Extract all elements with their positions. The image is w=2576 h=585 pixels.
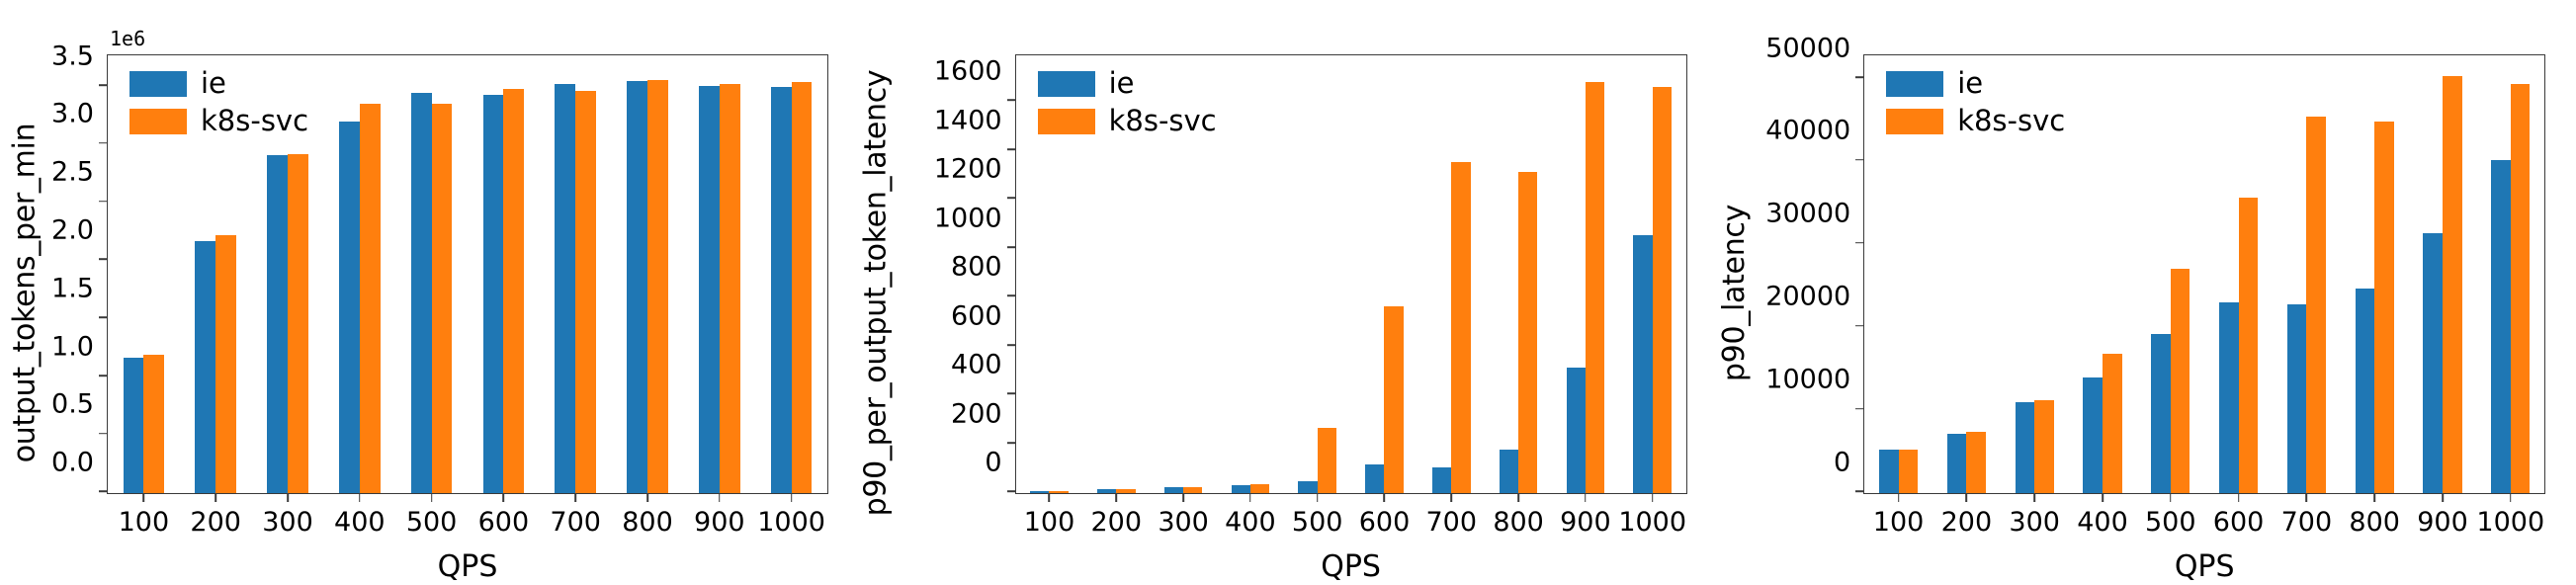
x-tick-label: 600 [478,507,530,538]
x-tick-mark [1652,493,1654,502]
y-tick-mark [99,433,108,435]
y-tick-label: 40000 [1765,116,1864,146]
x-tick-mark [215,493,216,502]
bar-group [468,55,540,493]
x-tick-label: 200 [190,507,241,538]
bar-k8s-svc [1250,484,1269,493]
y-tick-label: 10000 [1765,365,1864,395]
bar-ie [1030,491,1049,493]
bar-ie [267,155,288,493]
y-tick-mark [1007,295,1016,297]
bar-k8s-svc [2306,117,2326,493]
bar-ie [483,95,504,493]
y-tick-label: 0 [1834,448,1864,478]
bar-k8s-svc [1049,491,1068,493]
bar-group [612,55,684,493]
bar-k8s-svc [1318,428,1336,493]
bar-ie [1947,434,1967,493]
bar-group [1417,55,1485,493]
x-tick-mark [2170,493,2172,502]
y-axis-label-panel-2: p90_per_output_token_latency [853,0,899,585]
x-tick-label: 300 [262,507,313,538]
y-tick-mark [1007,198,1016,200]
y-tick-label: 3.5 [51,41,108,71]
x-tick-mark [2033,493,2035,502]
bar-ie [411,93,432,493]
bar-group [755,55,827,493]
y-tick-mark [1007,344,1016,346]
bar-ie [1633,235,1652,493]
bar-k8s-svc [792,82,813,493]
x-tick-mark [2510,493,2512,502]
x-tick-label: 300 [1158,507,1209,538]
bar-ie [555,84,575,493]
legend-swatch-k8s-icon [1038,109,1095,134]
x-tick-mark [287,493,289,502]
plot-area-panel-1: 1e6 0.00.51.01.52.02.53.03.5 10020030040… [107,54,828,494]
x-tick-label: 100 [1873,507,1925,538]
legend-panel-2: ie k8s-svc [1038,69,1217,135]
x-tick-mark [1898,493,1900,502]
bar-ie [1432,467,1451,493]
y-tick-mark [1007,246,1016,248]
y-tick-mark [1007,100,1016,102]
y-tick-label: 1200 [934,154,1016,185]
y-tick-label: 600 [951,300,1016,331]
y-tick-mark [1007,393,1016,395]
y-tick-mark [99,259,108,261]
bar-group [2069,55,2137,493]
x-tick-mark [646,493,648,502]
y-tick-mark [99,201,108,203]
bar-k8s-svc [720,84,740,493]
y-tick-mark [1855,159,1864,161]
bar-k8s-svc [2034,400,2054,493]
x-tick-mark [2373,493,2375,502]
x-tick-mark [719,493,721,502]
bar-ie [1879,450,1899,493]
bar-ie [1365,464,1384,493]
legend-item-k8s-svc: k8s-svc [1038,107,1217,135]
bar-ie [2491,160,2511,493]
y-tick-label: 2.0 [51,215,108,246]
bar-ie [124,358,144,493]
y-tick-label: 2.5 [51,157,108,188]
y-tick-label: 1400 [934,105,1016,135]
y-tick-label: 0 [985,448,1015,478]
bar-k8s-svc [360,104,381,493]
x-tick-label: 800 [622,507,673,538]
bar-k8s-svc [2511,84,2531,493]
plot-area-panel-3: 01000020000300004000050000 1002003004005… [1863,54,2545,494]
legend-label-ie: ie [1957,69,1983,98]
legend-item-k8s-svc: k8s-svc [129,107,308,135]
legend-item-ie: ie [1886,69,2065,98]
x-tick-mark [1450,493,1452,502]
y-axis-label-panel-3: p90_latency [1711,0,1757,585]
plot-area-panel-2: 02004006008001000120014001600 1002003004… [1015,54,1687,494]
y-tick-label: 30000 [1765,199,1864,229]
x-tick-mark [143,493,145,502]
x-tick-mark [2306,493,2308,502]
x-tick-label: 100 [119,507,170,538]
legend-swatch-k8s-icon [129,109,187,134]
bar-k8s-svc [2171,269,2190,493]
bar-group [1619,55,1686,493]
x-tick-label: 900 [2417,507,2468,538]
bar-ie [771,87,792,493]
bar-ie [1500,450,1518,493]
legend-item-ie: ie [1038,69,1217,98]
bar-k8s-svc [575,91,596,493]
bar-group [1284,55,1351,493]
bar-group [1485,55,1552,493]
x-tick-mark [791,493,793,502]
bar-ie [1232,485,1250,493]
y-tick-label: 200 [951,398,1016,429]
x-tick-label: 200 [1091,507,1143,538]
y-tick-label: 50000 [1765,33,1864,63]
bar-k8s-svc [2103,354,2122,493]
y-axis-label-panel-1: output_tokens_per_min [2,0,47,585]
bar-ie [2423,233,2443,493]
bar-k8s-svc [1653,87,1672,493]
bar-group [683,55,755,493]
x-tick-label: 1000 [2476,507,2544,538]
x-tick-label: 900 [1560,507,1611,538]
x-tick-label: 500 [1292,507,1343,538]
y-tick-mark [99,84,108,86]
bar-k8s-svc [2443,76,2462,493]
legend-label-k8s-svc: k8s-svc [201,107,308,135]
x-tick-label: 200 [1941,507,1993,538]
bar-k8s-svc [647,80,668,493]
y-tick-label: 800 [951,252,1016,283]
y-axis-label-text: output_tokens_per_min [8,123,43,462]
x-tick-mark [1966,493,1968,502]
bar-k8s-svc [1518,172,1537,493]
bar-group [323,55,395,493]
legend-label-ie: ie [201,69,226,98]
x-tick-label: 400 [334,507,386,538]
y-tick-mark [1855,491,1864,493]
x-tick-label: 500 [2145,507,2196,538]
x-tick-label: 300 [2009,507,2060,538]
bar-group [2136,55,2204,493]
panel-p90-latency: p90_latency 01000020000300004000050000 1… [1717,0,2576,585]
bar-group [1552,55,1619,493]
bar-k8s-svc [143,355,164,493]
y-tick-mark [1007,491,1016,493]
panel-output-tokens-per-min: output_tokens_per_min 1e6 0.00.51.01.52.… [0,0,859,585]
x-tick-label: 600 [1359,507,1411,538]
y-tick-mark [99,142,108,144]
legend-panel-3: ie k8s-svc [1886,69,2065,135]
bar-ie [2356,289,2375,493]
figure: output_tokens_per_min 1e6 0.00.51.01.52.… [0,0,2576,585]
bar-group [540,55,612,493]
x-axis-label-panel-1: QPS [108,549,827,584]
x-tick-label: 400 [1225,507,1276,538]
x-tick-label: 800 [2349,507,2400,538]
y-tick-label: 0.0 [51,448,108,478]
bar-k8s-svc [1966,432,1986,493]
bar-k8s-svc [2374,122,2394,493]
legend-label-ie: ie [1109,69,1135,98]
bar-ie [2016,402,2035,493]
x-tick-label: 400 [2077,507,2128,538]
bar-group [395,55,468,493]
y-tick-mark [1855,325,1864,327]
x-tick-mark [359,493,361,502]
bar-k8s-svc [432,104,453,493]
y-tick-label: 1.5 [51,273,108,303]
bar-ie [195,241,215,493]
bar-ie [2083,377,2103,493]
legend-swatch-k8s-icon [1886,109,1943,134]
bar-ie [1097,489,1116,493]
y-axis-label-text: p90_per_output_token_latency [858,69,893,516]
y-axis-label-text: p90_latency [1717,204,1752,380]
legend-panel-1: ie k8s-svc [129,69,308,135]
bar-ie [1298,481,1317,493]
x-tick-mark [1182,493,1184,502]
y-tick-mark [1855,242,1864,244]
legend-swatch-ie-icon [129,71,187,97]
x-tick-mark [1317,493,1319,502]
x-tick-mark [2442,493,2444,502]
bar-group [2476,55,2544,493]
x-tick-mark [431,493,433,502]
bar-k8s-svc [1451,162,1470,493]
x-tick-label: 600 [2213,507,2265,538]
x-axis-label-panel-3: QPS [1864,549,2544,584]
x-tick-mark [1585,493,1587,502]
y-tick-label: 1600 [934,56,1016,87]
bar-k8s-svc [2239,198,2259,493]
x-tick-mark [574,493,576,502]
x-tick-mark [1517,493,1519,502]
bar-ie [1567,368,1586,493]
y-tick-label: 3.0 [51,99,108,129]
legend-swatch-ie-icon [1886,71,1943,97]
panel-p90-per-output-token-latency: p90_per_output_token_latency 02004006008… [859,0,1718,585]
x-tick-mark [503,493,505,502]
x-axis-label-panel-2: QPS [1016,549,1686,584]
x-tick-label: 500 [406,507,458,538]
x-tick-label: 1000 [757,507,825,538]
y-tick-mark [1855,76,1864,78]
y-tick-mark [99,491,108,493]
x-tick-mark [1115,493,1117,502]
bar-ie [627,81,647,493]
bar-k8s-svc [288,154,308,493]
bar-group [1217,55,1284,493]
x-tick-mark [1249,493,1251,502]
bar-ie [699,86,720,493]
y-tick-label: 400 [951,350,1016,380]
y-tick-label: 20000 [1765,282,1864,312]
bar-ie [1164,487,1183,493]
bar-ie [339,122,360,493]
y-tick-label: 1000 [934,203,1016,233]
x-tick-label: 100 [1024,507,1075,538]
y-tick-mark [1007,442,1016,444]
bar-group [2341,55,2409,493]
bar-ie [2287,304,2307,493]
x-tick-label: 700 [550,507,601,538]
bar-k8s-svc [503,89,524,493]
bar-k8s-svc [1384,306,1403,493]
bar-group [2204,55,2273,493]
legend-label-k8s-svc: k8s-svc [1109,107,1217,135]
bar-k8s-svc [1586,82,1604,493]
bar-k8s-svc [1899,450,1919,493]
bar-ie [2219,302,2239,493]
y-tick-mark [1855,408,1864,410]
legend-item-k8s-svc: k8s-svc [1886,107,2065,135]
legend-item-ie: ie [129,69,308,98]
x-tick-label: 900 [694,507,745,538]
x-tick-mark [2102,493,2104,502]
y-tick-mark [99,316,108,318]
y-tick-label: 1.0 [51,331,108,362]
x-tick-label: 1000 [1618,507,1686,538]
y-axis-offset-text-panel-1: 1e6 [110,27,145,50]
bar-group [2409,55,2477,493]
x-tick-mark [1384,493,1386,502]
bar-k8s-svc [1183,487,1202,493]
bar-ie [2151,334,2171,493]
x-tick-label: 700 [1426,507,1478,538]
x-tick-mark [1049,493,1051,502]
bar-k8s-svc [1116,489,1135,493]
y-tick-mark [1007,148,1016,150]
x-tick-mark [2238,493,2240,502]
bar-group [1351,55,1418,493]
x-tick-label: 700 [2281,507,2333,538]
y-tick-label: 0.5 [51,389,108,420]
x-tick-label: 800 [1493,507,1544,538]
bar-k8s-svc [215,235,236,493]
y-tick-mark [99,375,108,376]
legend-swatch-ie-icon [1038,71,1095,97]
legend-label-k8s-svc: k8s-svc [1957,107,2065,135]
bar-group [2273,55,2341,493]
